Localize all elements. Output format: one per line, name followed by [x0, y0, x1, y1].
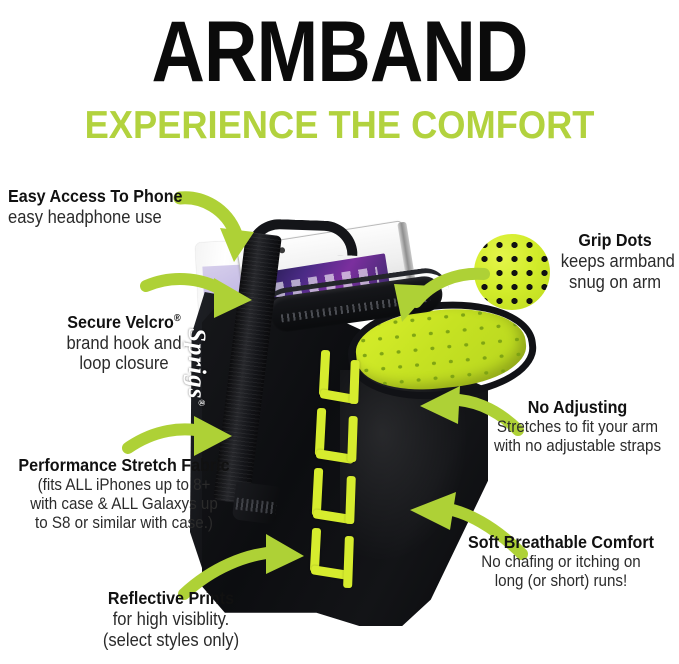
registered-mark-icon: ®: [174, 313, 181, 324]
callout-line: easy headphone use: [8, 207, 210, 228]
callout-grip-dots: Grip Dots keeps armband snug on arm: [556, 230, 674, 292]
reflective-print-mark: [343, 536, 354, 588]
callout-heading: Grip Dots: [561, 230, 670, 251]
callout-heading: Reflective Prints: [71, 588, 272, 609]
callout-line: long (or short) runs!: [453, 572, 668, 591]
callout-heading: Secure Velcro®: [32, 308, 216, 333]
callout-soft-breathable-comfort: Soft Breathable Comfort No chafing or it…: [444, 532, 678, 591]
callout-line: No chafing or itching on: [453, 553, 668, 572]
arrow-grip-dots: [388, 268, 488, 338]
callout-heading: Performance Stretch Fabric: [10, 455, 238, 476]
callout-line: keeps armband: [561, 251, 670, 272]
callout-reflective-prints: Reflective Prints for high visiblity. (s…: [62, 588, 280, 650]
callout-line: for high visiblity.: [71, 609, 272, 630]
callout-line: to S8 or similar with case.): [10, 514, 238, 533]
callout-no-adjusting: No Adjusting Stretches to fit your arm w…: [478, 397, 677, 456]
callout-performance-stretch-fabric: Performance Stretch Fabric (fits ALL iPh…: [0, 455, 248, 533]
reflective-print-mark: [345, 476, 356, 524]
page-subtitle: EXPERIENCE THE COMFORT: [24, 104, 655, 148]
reflective-print-mark: [349, 360, 360, 404]
callout-heading: Easy Access To Phone: [8, 186, 210, 207]
callout-heading: No Adjusting: [486, 397, 669, 418]
callout-line: brand hook and: [32, 333, 216, 354]
header-banner: ARMBAND EXPERIENCE THE COMFORT: [0, 0, 679, 160]
reflective-print-mark: [347, 416, 358, 462]
callout-heading-text: Secure Velcro: [67, 312, 174, 332]
callout-line: loop closure: [32, 353, 216, 374]
callout-line: snug on arm: [561, 272, 670, 293]
callout-line: (select styles only): [71, 630, 272, 651]
callout-easy-access: Easy Access To Phone easy headphone use: [8, 186, 228, 228]
callout-line: with case & ALL Galaxys up: [10, 495, 238, 514]
brand-registered-mark: ®: [196, 399, 206, 407]
callout-heading: Soft Breathable Comfort: [453, 532, 668, 553]
page-title: ARMBAND: [48, 4, 632, 100]
callout-line: (fits ALL iPhones up to 8+: [10, 476, 238, 495]
callout-line: with no adjustable straps: [486, 437, 669, 456]
callout-line: Stretches to fit your arm: [486, 418, 669, 437]
callout-secure-velcro: Secure Velcro® brand hook and loop closu…: [24, 308, 224, 374]
